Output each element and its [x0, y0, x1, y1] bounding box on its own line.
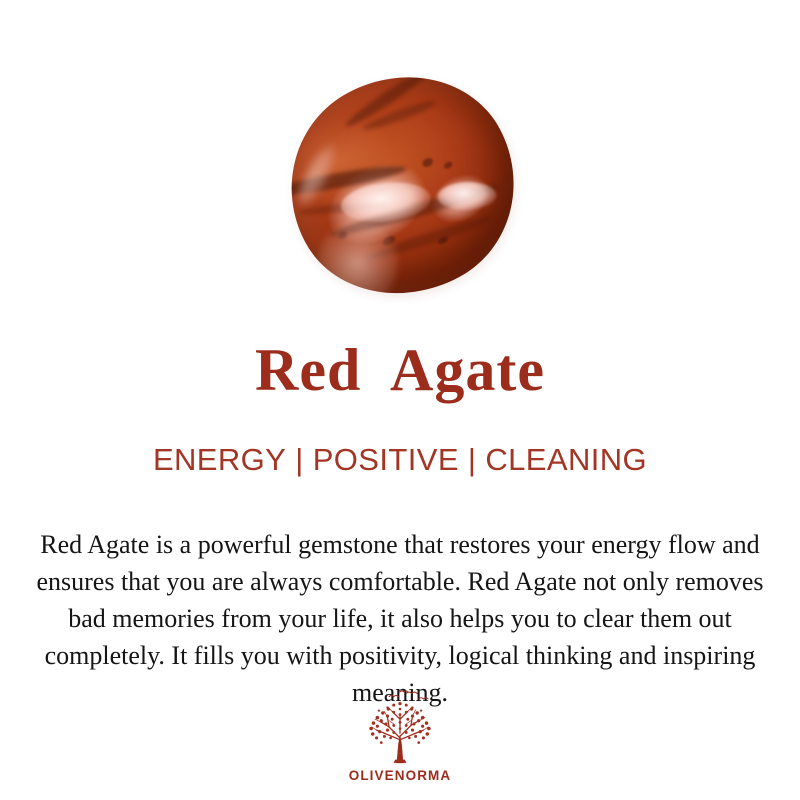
stone-speck	[442, 160, 453, 170]
red-agate-stone	[253, 38, 553, 333]
keyword-cleaning: CLEANING	[485, 442, 647, 477]
keyword-positive: POSITIVE	[313, 442, 459, 477]
keyword-list: ENERGY|POSITIVE|CLEANING	[0, 440, 800, 480]
tree-icon	[352, 688, 448, 766]
stone-speck	[420, 156, 434, 169]
brand-logo: OLIVENORMA	[0, 688, 800, 783]
product-infographic: Red Agate ENERGY|POSITIVE|CLEANING Red A…	[0, 0, 800, 800]
keyword-energy: ENERGY	[153, 442, 286, 477]
gemstone-image	[0, 0, 800, 320]
stone-edge-translucency	[315, 219, 399, 308]
keyword-separator: |	[286, 440, 312, 480]
gemstone-figure	[290, 78, 515, 293]
page-title: Red Agate	[0, 335, 800, 405]
brand-name: OLIVENORMA	[0, 768, 800, 783]
keyword-separator: |	[459, 440, 485, 480]
product-description: Red Agate is a powerful gemstone that re…	[26, 526, 774, 711]
stone-highlight-small	[437, 181, 496, 211]
